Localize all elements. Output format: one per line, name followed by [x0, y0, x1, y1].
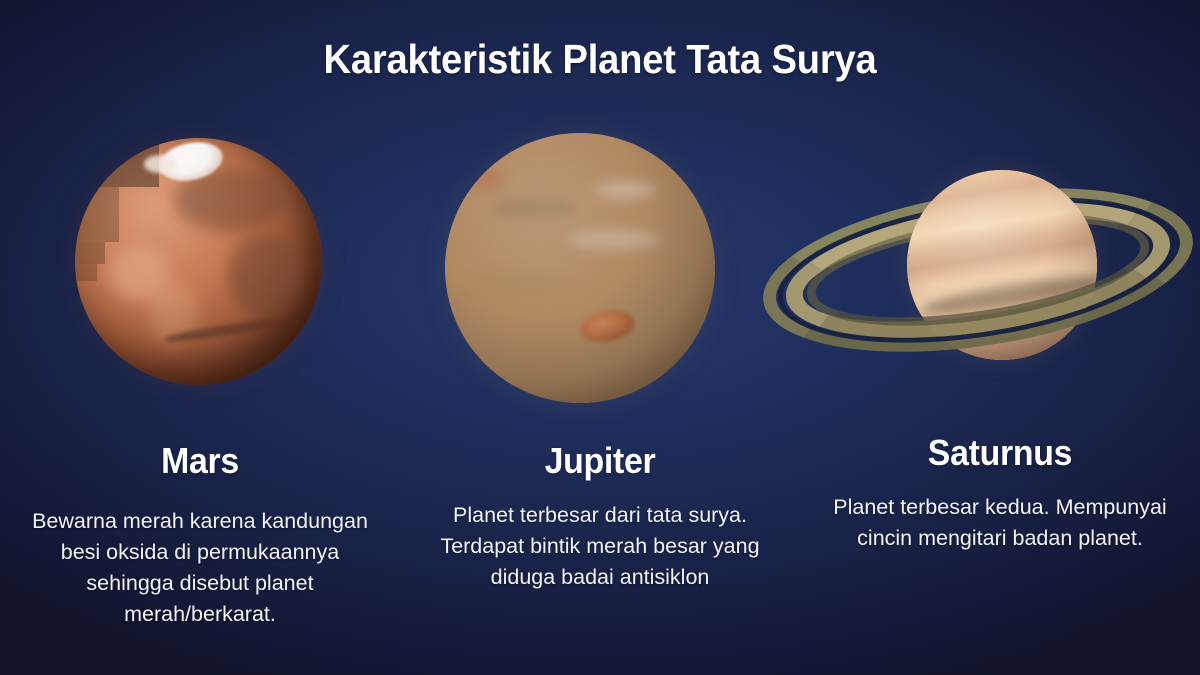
planet-name-saturnus: Saturnus	[812, 432, 1188, 474]
jupiter-terminator-shading	[445, 133, 715, 403]
planet-card-jupiter: Jupiter Planet terbesar dari tata surya.…	[400, 120, 800, 675]
mars-planet-image	[75, 138, 322, 385]
planet-description-saturnus: Planet terbesar kedua. Mempunyai cincin …	[800, 492, 1200, 554]
planet-card-mars: Mars Bewarna merah karena kandungan besi…	[0, 120, 400, 675]
mars-planet-stage	[0, 120, 400, 420]
planet-name-mars: Mars	[12, 440, 388, 482]
jupiter-planet-image	[445, 133, 715, 403]
mars-terminator-shading	[75, 138, 322, 385]
saturn-planet-image	[755, 120, 1200, 420]
planet-name-jupiter: Jupiter	[412, 440, 788, 482]
saturn-planet-stage	[800, 120, 1200, 420]
page-title: Karakteristik Planet Tata Surya	[42, 36, 1158, 83]
slide-canvas: Karakteristik Planet Tata Surya Mars Bew…	[0, 0, 1200, 675]
jupiter-planet-stage	[400, 120, 800, 420]
planet-description-jupiter: Planet terbesar dari tata surya. Terdapa…	[400, 500, 800, 593]
planet-description-mars: Bewarna merah karena kandungan besi oksi…	[0, 506, 400, 630]
planet-card-saturnus: Saturnus Planet terbesar kedua. Mempunya…	[800, 120, 1200, 675]
